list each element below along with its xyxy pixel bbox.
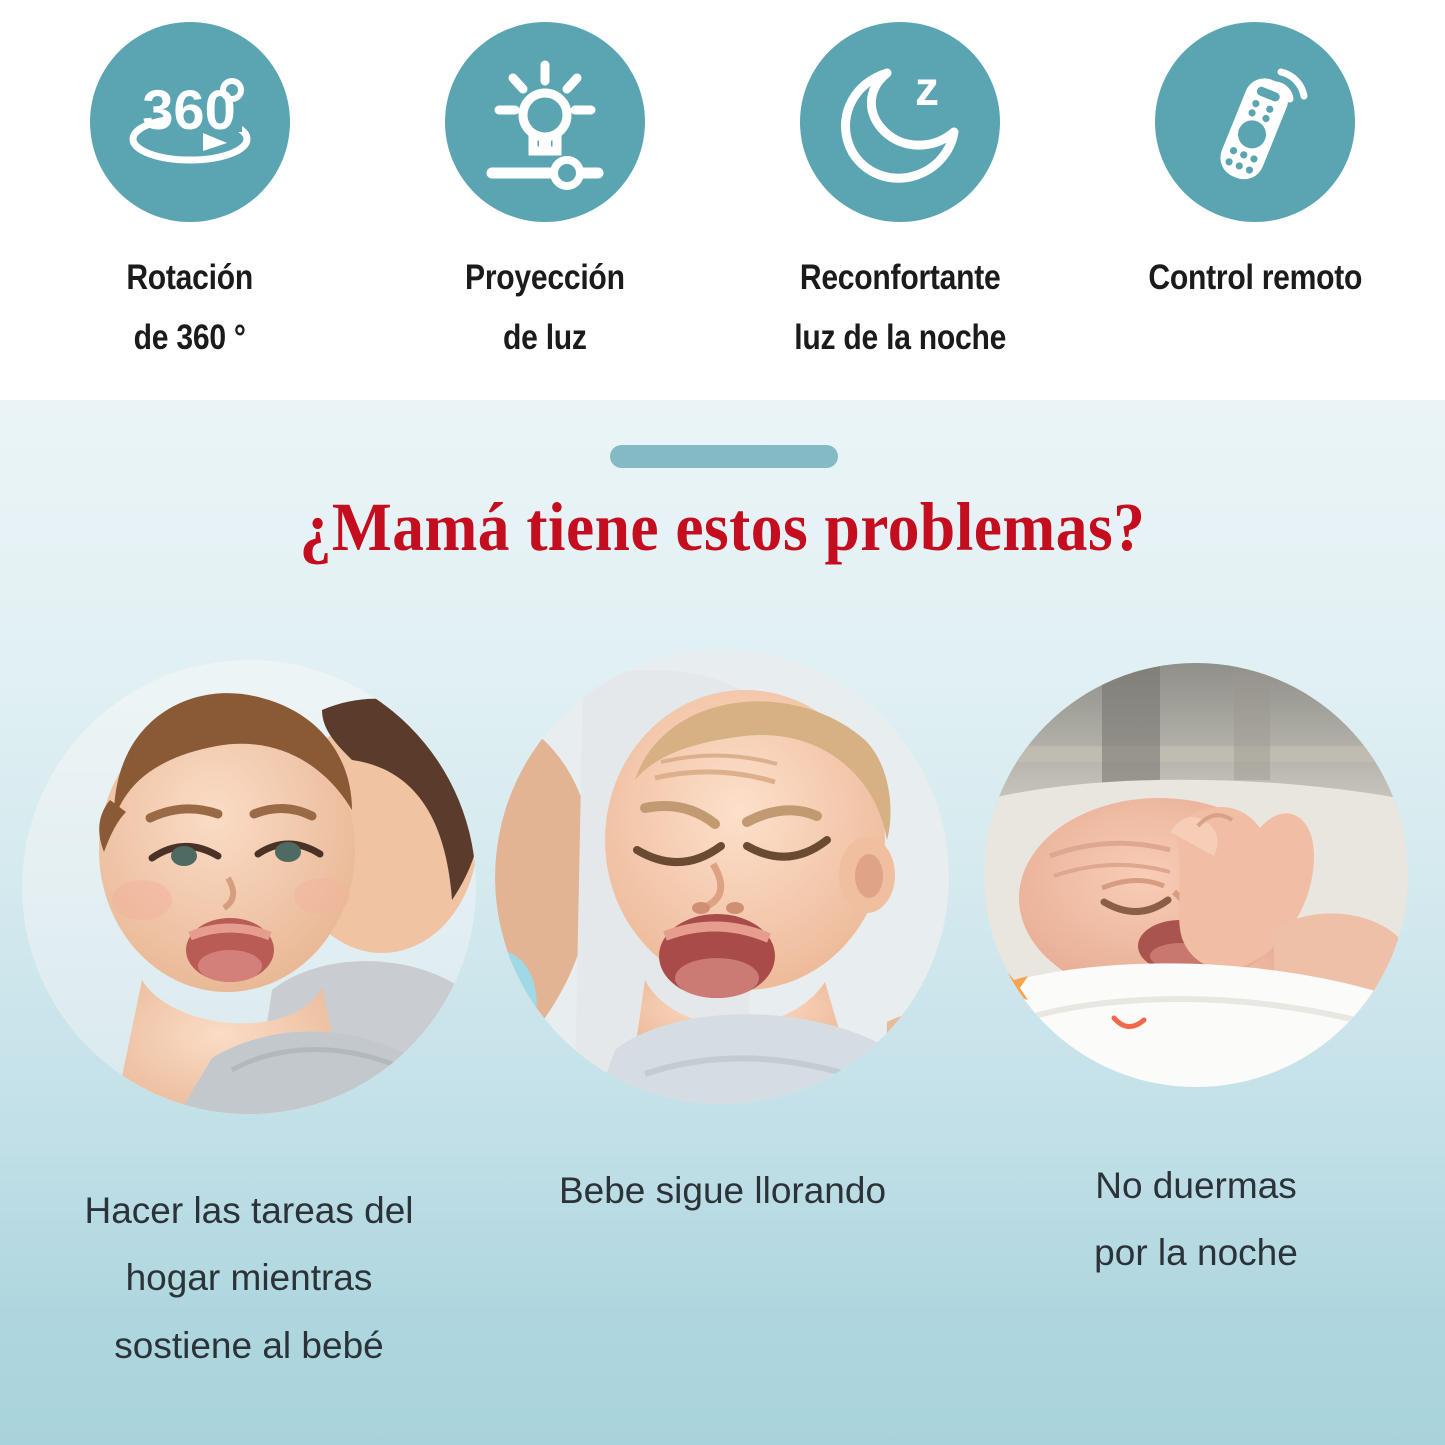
problem-card: Hacer las tareas del hogar mientras sost… [18, 650, 480, 1379]
feature-strip: 360 Rotación de 360 ° [0, 0, 1445, 400]
newborn-crying-in-bed-photo [984, 650, 1409, 1100]
feature-label: Reconfortante luz de la noche [794, 248, 1006, 368]
feature-label: Rotación de 360 ° [126, 248, 253, 368]
card-caption: No duermas por la noche [1094, 1152, 1298, 1287]
crying-baby-photo [495, 650, 950, 1105]
problem-card: No duermas por la noche [965, 650, 1427, 1379]
feature-badge-light [445, 22, 645, 222]
feature-label: Control remoto [1149, 248, 1363, 308]
feature-badge-remote [1155, 22, 1355, 222]
feature-light-projection: Proyección de luz [367, 22, 722, 368]
problems-panel: ¿Mamá tiene estos problemas? [0, 400, 1445, 1445]
divider-pill [610, 445, 838, 468]
problem-card: Bebe sigue llorando [492, 650, 954, 1379]
feature-badge-rotation: 360 [90, 22, 290, 222]
svg-text:z: z [915, 63, 939, 116]
feature-label: Proyección de luz [465, 248, 625, 368]
card-caption: Hacer las tareas del hogar mientras sost… [84, 1177, 413, 1379]
page-title: ¿Mamá tiene estos problemas? [58, 488, 1387, 567]
remote-control-icon [1180, 47, 1330, 197]
feature-badge-moon: z [800, 22, 1000, 222]
problem-cards: Hacer las tareas del hogar mientras sost… [0, 650, 1445, 1379]
feature-remote-control: Control remoto [1078, 22, 1433, 308]
feature-night-light: z Reconfortante luz de la noche [723, 22, 1078, 368]
product-infographic: 360 Rotación de 360 ° [0, 0, 1445, 1445]
crying-toddler-held-by-mother-photo [22, 650, 477, 1125]
rotation-360-icon: 360 [115, 47, 265, 197]
feature-rotation-360: 360 Rotación de 360 ° [12, 22, 367, 368]
light-projection-icon [470, 47, 620, 197]
moon-sleep-icon: z [825, 47, 975, 197]
card-caption: Bebe sigue llorando [559, 1157, 886, 1224]
